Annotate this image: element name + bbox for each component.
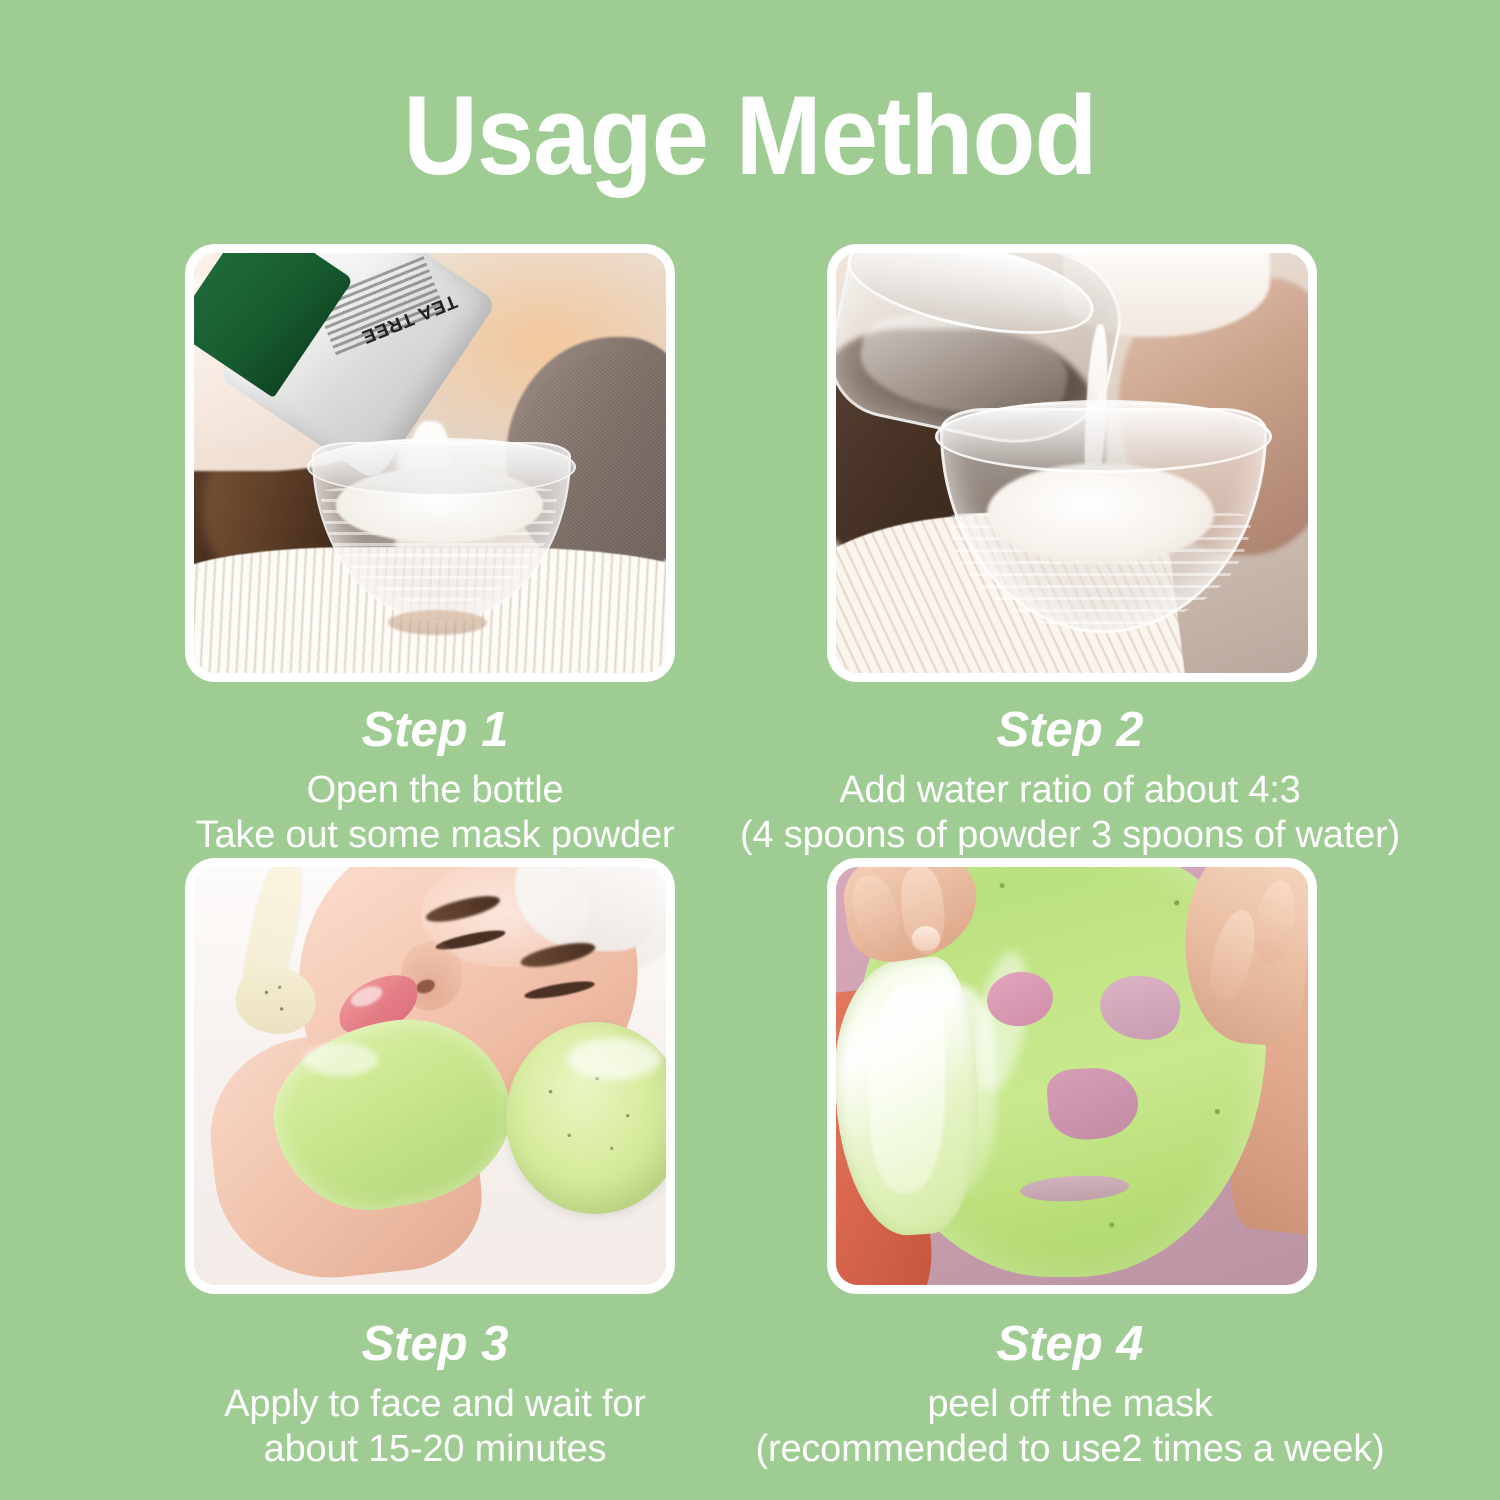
step-4-caption-lines: peel off the mask (recommended to use2 t… — [690, 1382, 1450, 1472]
step-3-photo — [194, 867, 666, 1285]
step-4-caption-line-1: peel off the mask — [690, 1382, 1450, 1427]
step-1-photo: TEA TREE — [194, 253, 666, 673]
photo3-bowl-highlight — [567, 1038, 661, 1080]
photo4-fingernail — [912, 926, 940, 951]
photo-frame-2 — [827, 244, 1317, 682]
step-2-caption-line-1: Add water ratio of about 4:3 — [690, 768, 1450, 813]
step-3-photo-cell — [185, 858, 675, 1294]
step-2-photo — [836, 253, 1308, 673]
photo-frame-1: TEA TREE — [185, 244, 675, 682]
step-4-photo-cell — [827, 858, 1317, 1294]
step-2-label: Step 2 — [690, 702, 1450, 758]
photo-frame-4 — [827, 858, 1317, 1294]
usage-method-poster: Usage Method TEA TREE — [0, 0, 1500, 1500]
photo-frame-3 — [185, 858, 675, 1294]
step-4-photo — [836, 867, 1308, 1285]
photo3-mask-highlight — [303, 1043, 379, 1076]
step-2-caption-line-2: (4 spoons of powder 3 spoons of water) — [690, 813, 1450, 858]
step-2-caption: Step 2 Add water ratio of about 4:3 (4 s… — [690, 702, 1450, 858]
step-4-caption: Step 4 peel off the mask (recommended to… — [690, 1316, 1450, 1472]
step-1-photo-cell: TEA TREE — [185, 244, 675, 682]
photo1-bowl-rim — [307, 438, 575, 497]
page-title: Usage Method — [60, 76, 1440, 196]
step-2-caption-lines: Add water ratio of about 4:3 (4 spoons o… — [690, 768, 1450, 858]
step-2-photo-cell — [827, 244, 1317, 682]
step-4-caption-line-2: (recommended to use2 times a week) — [690, 1427, 1450, 1472]
step-4-label: Step 4 — [690, 1316, 1450, 1372]
photo4-peel-highlight — [869, 984, 945, 1193]
photo1-bowl-base — [388, 610, 487, 635]
photo2-bowl-rim — [935, 400, 1271, 473]
photo2-bowl-powder — [987, 463, 1214, 564]
